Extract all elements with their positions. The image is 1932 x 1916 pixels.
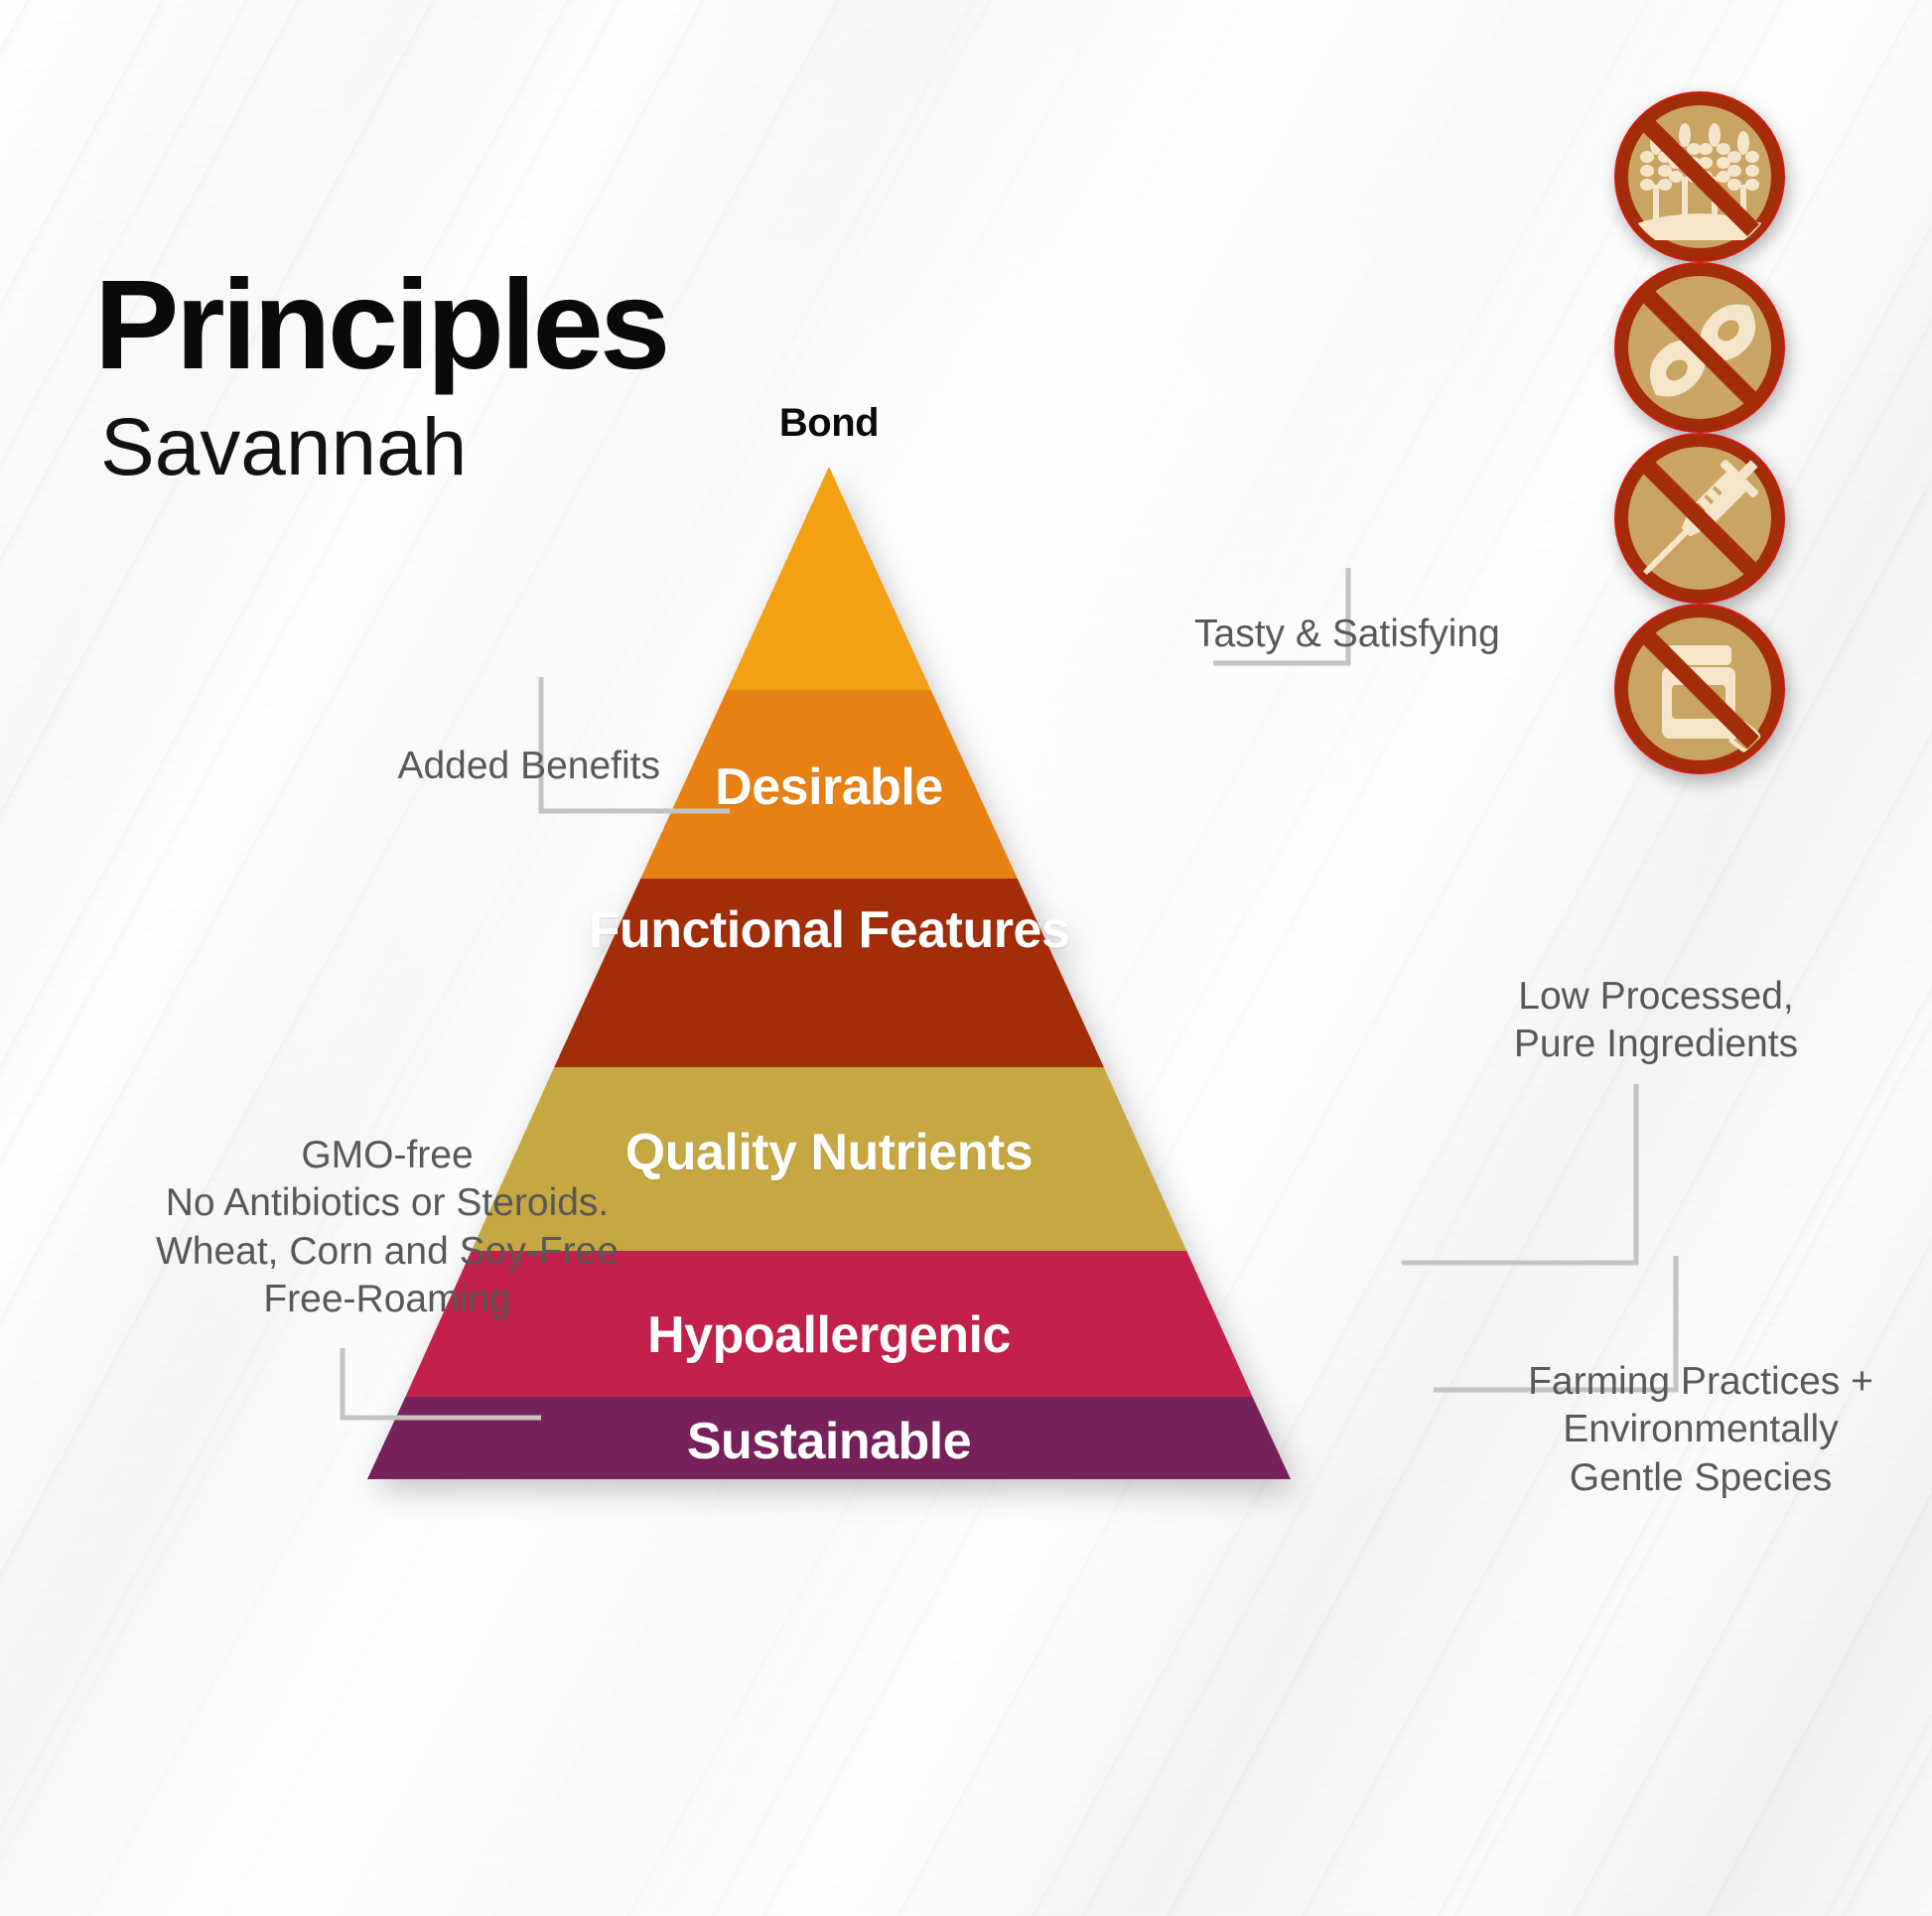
annotation-farming-practices: Farming Practices + Environmentally Gent… (1497, 1358, 1904, 1502)
pyramid-tier-desirable (640, 690, 1018, 879)
page-title: Principles (94, 266, 667, 385)
pyramid-tier-apex-mid (727, 566, 930, 690)
pyramid: Desirable Functional Features Quality Nu… (367, 467, 1291, 1479)
badge-no-medication[interactable] (1600, 590, 1799, 788)
annotation-gmo-block: GMO-free No Antibiotics or Steroids. Whe… (84, 1132, 690, 1323)
annotation-low-processed: Low Processed, Pure Ingredients (1457, 973, 1855, 1069)
annotation-added-benefits: Added Benefits (243, 743, 660, 790)
badge-no-soy[interactable] (1600, 248, 1799, 447)
pyramid-tier-sustainable (367, 1397, 1291, 1479)
page-subtitle: Savannah (100, 407, 667, 488)
annotation-tasty-satisfying: Tasty & Satisfying (1194, 611, 1552, 658)
pyramid-tier-functional (554, 879, 1104, 1067)
title-block: Principles Savannah (94, 266, 667, 488)
infographic-canvas: Principles Savannah Bond (0, 0, 1932, 1916)
badge-no-wheat[interactable] (1600, 77, 1799, 276)
certification-badge-stack (1600, 77, 1819, 760)
pyramid-tier-apex-top (783, 467, 874, 566)
badge-no-antibiotics[interactable] (1600, 419, 1799, 617)
